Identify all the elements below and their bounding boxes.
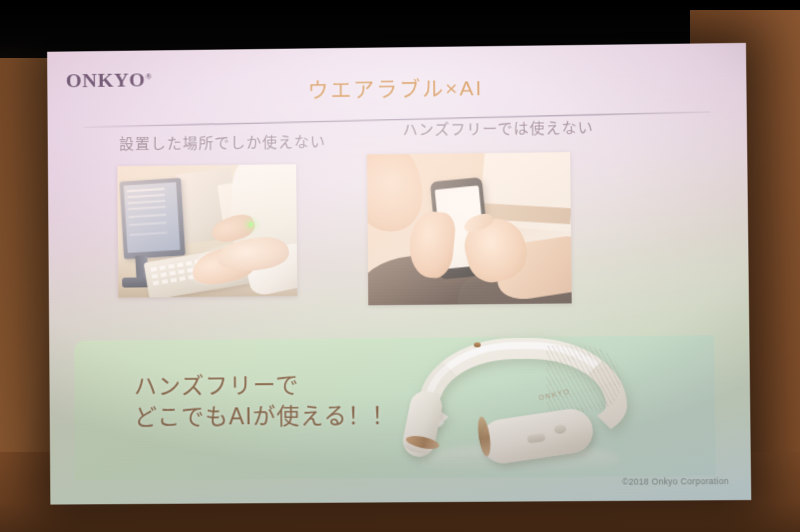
neckband-left-arm	[400, 388, 445, 459]
photo-desk-keyboard	[117, 164, 297, 297]
key-message-line2: どこでもAIが使える！！	[134, 400, 396, 433]
copyright-notice: ©2018 Onkyo Corporation	[622, 476, 729, 487]
key-message-line1: ハンズフリーで	[134, 369, 396, 402]
product-neckband-speaker: ONKYO	[388, 327, 659, 478]
photo-smartphone	[367, 152, 572, 305]
projection-screen: ONKYO® ウエアラブル×AI 設置した場所でしか使えない ハンズフリーでは使…	[47, 43, 751, 505]
product-button-secondary	[554, 424, 567, 435]
presentation-room: ONKYO® ウエアラブル×AI 設置した場所でしか使えない ハンズフリーでは使…	[0, 0, 800, 532]
photo-warm-wash	[117, 164, 297, 297]
product-button-primary	[527, 433, 546, 444]
speaker-mesh	[546, 345, 621, 412]
caption-left: 設置した場所でしか使えない	[119, 131, 326, 154]
title-underline	[83, 111, 710, 128]
indicator-dot	[474, 342, 481, 347]
key-message: ハンズフリーで どこでもAIが使える！！	[134, 369, 396, 434]
slide-canvas: ONKYO® ウエアラブル×AI 設置した場所でしか使えない ハンズフリーでは使…	[47, 43, 751, 505]
photo-warm-wash	[367, 152, 572, 305]
caption-right: ハンズフリーでは使えない	[403, 117, 594, 140]
